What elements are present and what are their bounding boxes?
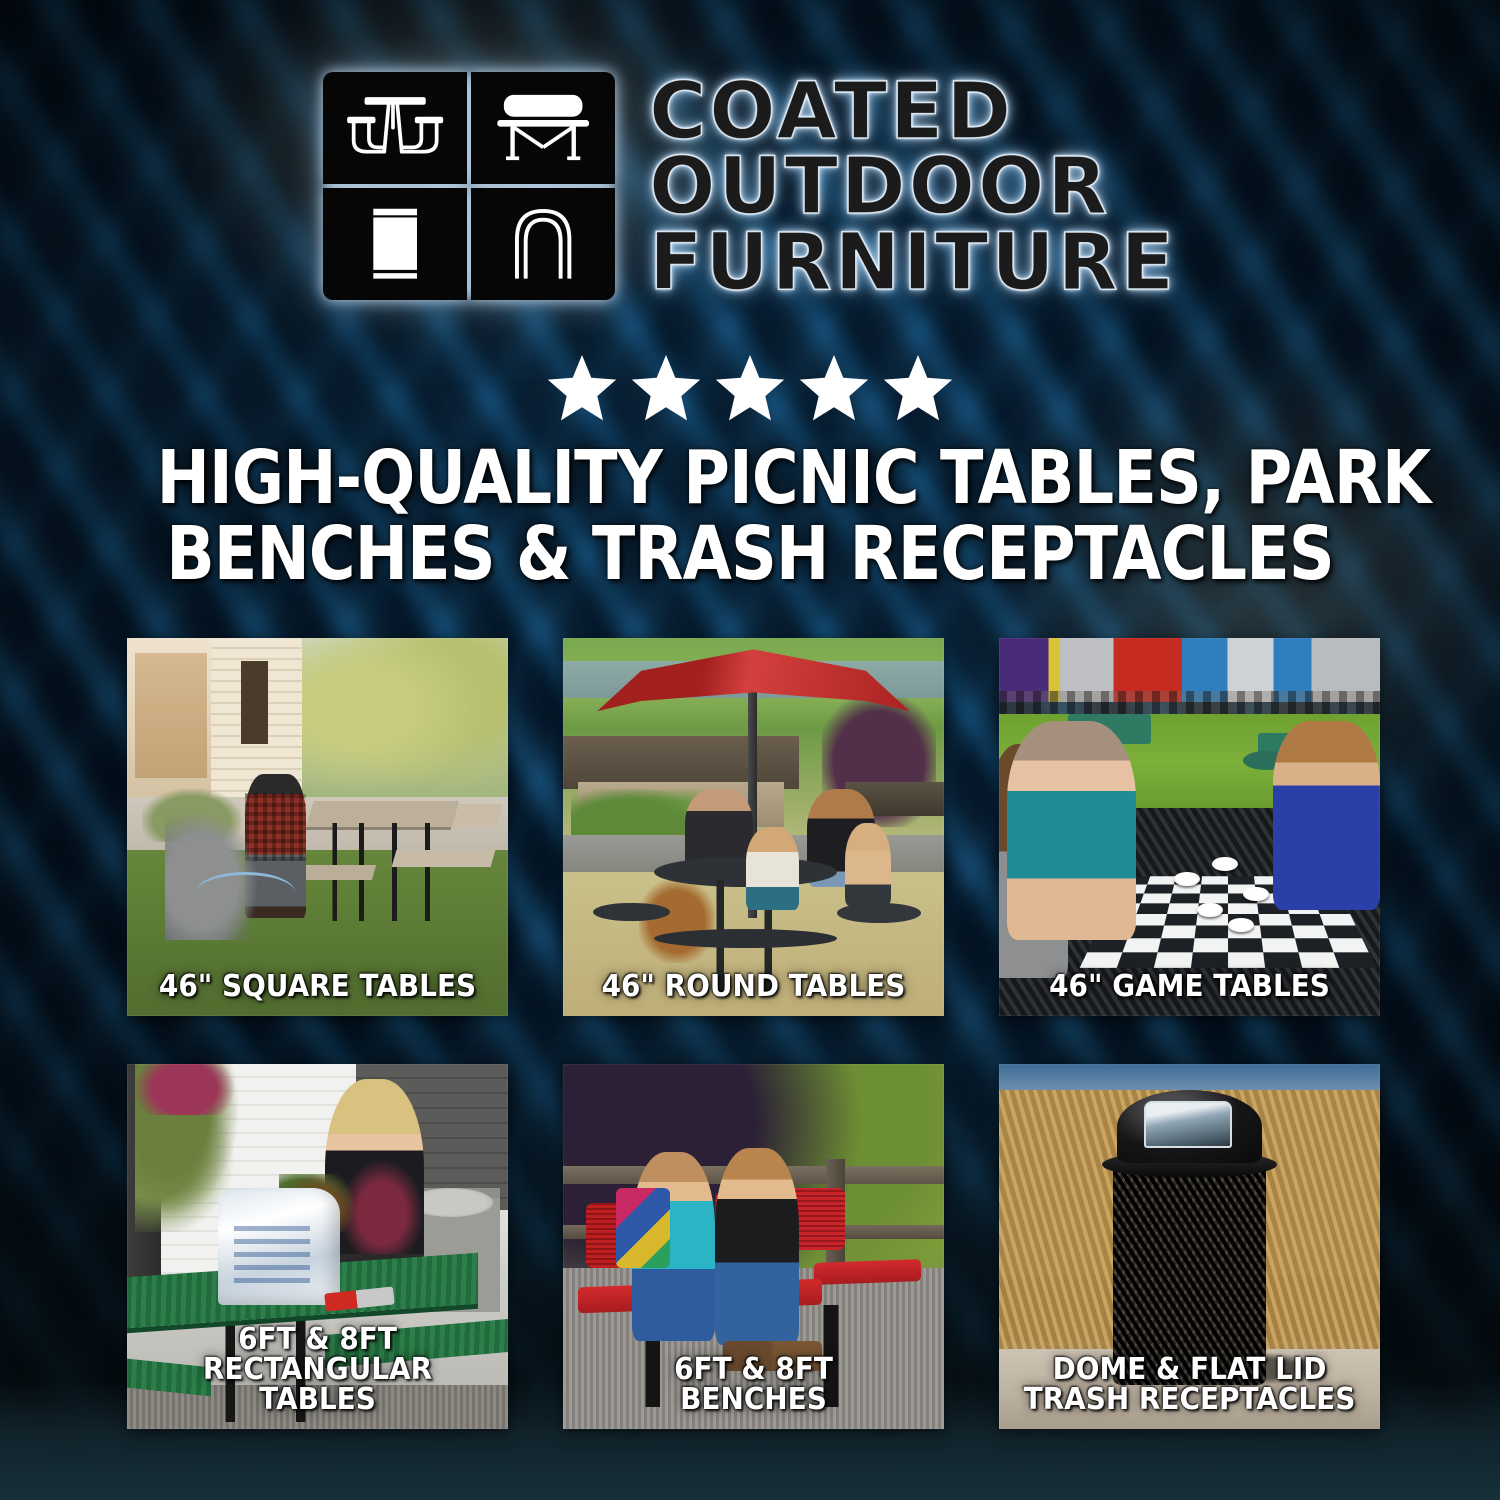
product-photo-game-tables	[999, 638, 1380, 1016]
product-caption: DOME & FLAT LID TRASH RECEPTACLES	[1018, 1355, 1361, 1415]
star-icon	[545, 352, 619, 424]
rating-stars	[0, 352, 1500, 424]
star-icon	[629, 352, 703, 424]
wordmark-line-2: OUTDOOR	[649, 151, 1177, 224]
product-grid: 46" SQUARE TABLES	[127, 638, 1380, 1429]
picnic-table-icon	[323, 72, 467, 184]
caption-line-1: 46" GAME TABLES	[1018, 972, 1361, 1002]
brand-logo: COATED OUTDOOR FURNITURE	[0, 72, 1500, 300]
trash-receptacle-icon	[323, 188, 467, 300]
bench-icon	[471, 72, 615, 184]
star-icon	[881, 352, 955, 424]
headline-line-2: BENCHES & TRASH RECEPTACLES	[157, 516, 1344, 592]
product-caption: 6FT & 8FT BENCHES	[582, 1355, 925, 1415]
logo-icon-grid	[323, 72, 615, 300]
product-photo-square-tables	[127, 638, 508, 1016]
wordmark-line-3: FURNITURE	[649, 227, 1177, 300]
star-icon	[713, 352, 787, 424]
product-photo-round-tables	[563, 638, 944, 1016]
caption-line-1: 6FT & 8FT	[582, 1355, 925, 1385]
caption-line-1: 6FT & 8FT	[146, 1325, 489, 1355]
star-icon	[797, 352, 871, 424]
product-caption: 46" GAME TABLES	[1018, 972, 1361, 1002]
caption-line-2: RECTANGULAR TABLES	[146, 1355, 489, 1415]
caption-line-1: DOME & FLAT LID	[1018, 1355, 1361, 1385]
product-caption: 46" ROUND TABLES	[582, 972, 925, 1002]
caption-line-1: 46" SQUARE TABLES	[146, 972, 489, 1002]
product-caption: 46" SQUARE TABLES	[146, 972, 489, 1002]
promo-poster: COATED OUTDOOR FURNITURE HIGH-QUALITY PI…	[0, 0, 1500, 1500]
caption-line-2: TRASH RECEPTACLES	[1018, 1385, 1361, 1415]
headline-line-1: HIGH-QUALITY PICNIC TABLES, PARK	[157, 440, 1344, 516]
product-tile-trash-receptacles[interactable]: DOME & FLAT LID TRASH RECEPTACLES	[999, 1064, 1380, 1429]
brand-wordmark: COATED OUTDOOR FURNITURE	[649, 72, 1177, 300]
bike-rack-arch-icon	[471, 188, 615, 300]
caption-line-2: BENCHES	[582, 1385, 925, 1415]
product-tile-rectangular-tables[interactable]: 6FT & 8FT RECTANGULAR TABLES	[127, 1064, 508, 1429]
page-title: HIGH-QUALITY PICNIC TABLES, PARK BENCHES…	[157, 440, 1344, 592]
product-tile-square-tables[interactable]: 46" SQUARE TABLES	[127, 638, 508, 1016]
product-caption: 6FT & 8FT RECTANGULAR TABLES	[146, 1325, 489, 1415]
product-tile-benches[interactable]: 6FT & 8FT BENCHES	[563, 1064, 944, 1429]
product-tile-game-tables[interactable]: 46" GAME TABLES	[999, 638, 1380, 1016]
caption-line-1: 46" ROUND TABLES	[582, 972, 925, 1002]
product-tile-round-tables[interactable]: 46" ROUND TABLES	[563, 638, 944, 1016]
wordmark-line-1: COATED	[649, 76, 1177, 149]
